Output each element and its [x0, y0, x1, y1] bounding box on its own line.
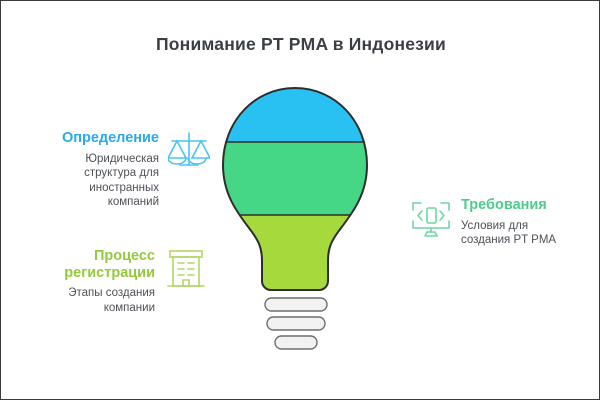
item-registration-heading: Процесс регистрации	[64, 248, 155, 281]
item-requirements-description: Условия для создания PT PMA	[461, 219, 556, 248]
page-title: Понимание PT PMA в Индонезии	[1, 34, 600, 55]
lightbulb-illustration	[219, 85, 371, 375]
base-ring-1	[265, 298, 327, 311]
infographic-canvas: Понимание PT PMA в Индонезии	[0, 0, 600, 400]
item-registration-description: Этапы создания компании	[68, 286, 155, 315]
bulb-segment-middle	[219, 142, 371, 215]
item-registration[interactable]: Процесс регистрации Этапы создания компа…	[43, 248, 211, 315]
item-requirements[interactable]: Требования Условия для создания PT PMA	[410, 197, 585, 248]
item-requirements-texts: Требования Условия для создания PT PMA	[461, 197, 556, 248]
item-definition-heading: Определение	[62, 130, 159, 147]
scales-icon	[168, 130, 210, 175]
base-ring-3	[275, 336, 317, 349]
item-definition-texts: Определение Юридическая структура для ин…	[43, 130, 159, 210]
item-registration-texts: Процесс регистрации Этапы создания компа…	[43, 248, 155, 315]
building-icon	[165, 248, 207, 295]
item-definition-description: Юридическая структура для иностранных ко…	[84, 152, 159, 210]
item-requirements-heading: Требования	[461, 197, 547, 214]
base-ring-2	[267, 317, 325, 330]
screw-base	[265, 298, 327, 349]
item-definition[interactable]: Определение Юридическая структура для ин…	[43, 130, 211, 210]
monitor-code-icon	[410, 199, 452, 244]
